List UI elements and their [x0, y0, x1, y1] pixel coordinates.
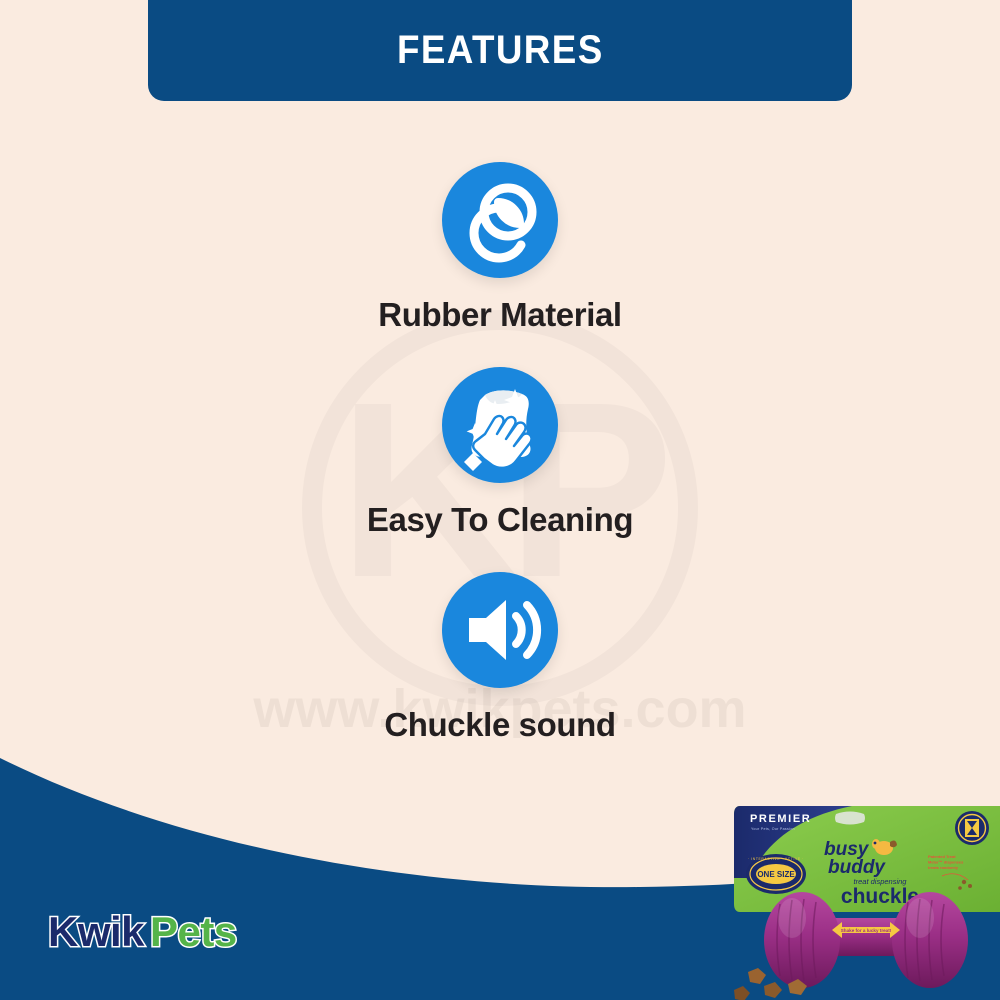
- features-list: Rubber Material: [0, 162, 1000, 744]
- patent-note-line2: Meter™ dispenses: [928, 860, 964, 865]
- feature-infographic-page: KP www.kwikpets.com FEATURES: [0, 0, 1000, 1000]
- feature-item-rubber-material: Rubber Material: [378, 162, 621, 334]
- page-title: FEATURES: [397, 28, 604, 73]
- one-size-badge-text: ONE SIZE: [757, 870, 795, 879]
- toy-arrow-text: Shake for a lucky treat!: [841, 928, 892, 933]
- rubber-material-icon: [442, 162, 558, 278]
- product-brand-tagline: Your Pets, Our Passion: [751, 827, 795, 831]
- product-package-card: PREMIER Your Pets, Our Passion ONE SIZE …: [734, 806, 1000, 912]
- product-image-busy-buddy-chuckle[interactable]: PREMIER Your Pets, Our Passion ONE SIZE …: [732, 800, 1000, 1000]
- one-size-badge: ONE SIZE · INTERACTIVE · ACTIVE ·: [746, 854, 806, 894]
- patent-note-line3: treats randomly: [928, 865, 959, 870]
- feature-label: Easy To Cleaning: [367, 501, 633, 539]
- feature-item-chuckle-sound: Chuckle sound: [384, 572, 615, 744]
- feature-label: Rubber Material: [378, 296, 621, 334]
- logo-text-pets: Pets: [150, 908, 237, 955]
- features-header-banner: FEATURES: [148, 0, 852, 101]
- speaker-sound-icon: [442, 572, 558, 688]
- cleaning-wipe-icon: [442, 367, 558, 483]
- treat-meter-seal-icon: [955, 811, 989, 845]
- kwik-pets-logo[interactable]: KwikPets: [48, 908, 237, 956]
- logo-text-kwik: Kwik: [48, 908, 144, 955]
- feature-item-easy-to-cleaning: Easy To Cleaning: [367, 367, 633, 539]
- product-line-name-2: buddy: [828, 857, 886, 878]
- one-size-badge-ring-text: · INTERACTIVE · ACTIVE ·: [748, 857, 804, 861]
- product-brand-text: PREMIER: [750, 813, 811, 825]
- feature-label: Chuckle sound: [384, 706, 615, 744]
- patent-note-line1: Patented Treat: [928, 854, 956, 859]
